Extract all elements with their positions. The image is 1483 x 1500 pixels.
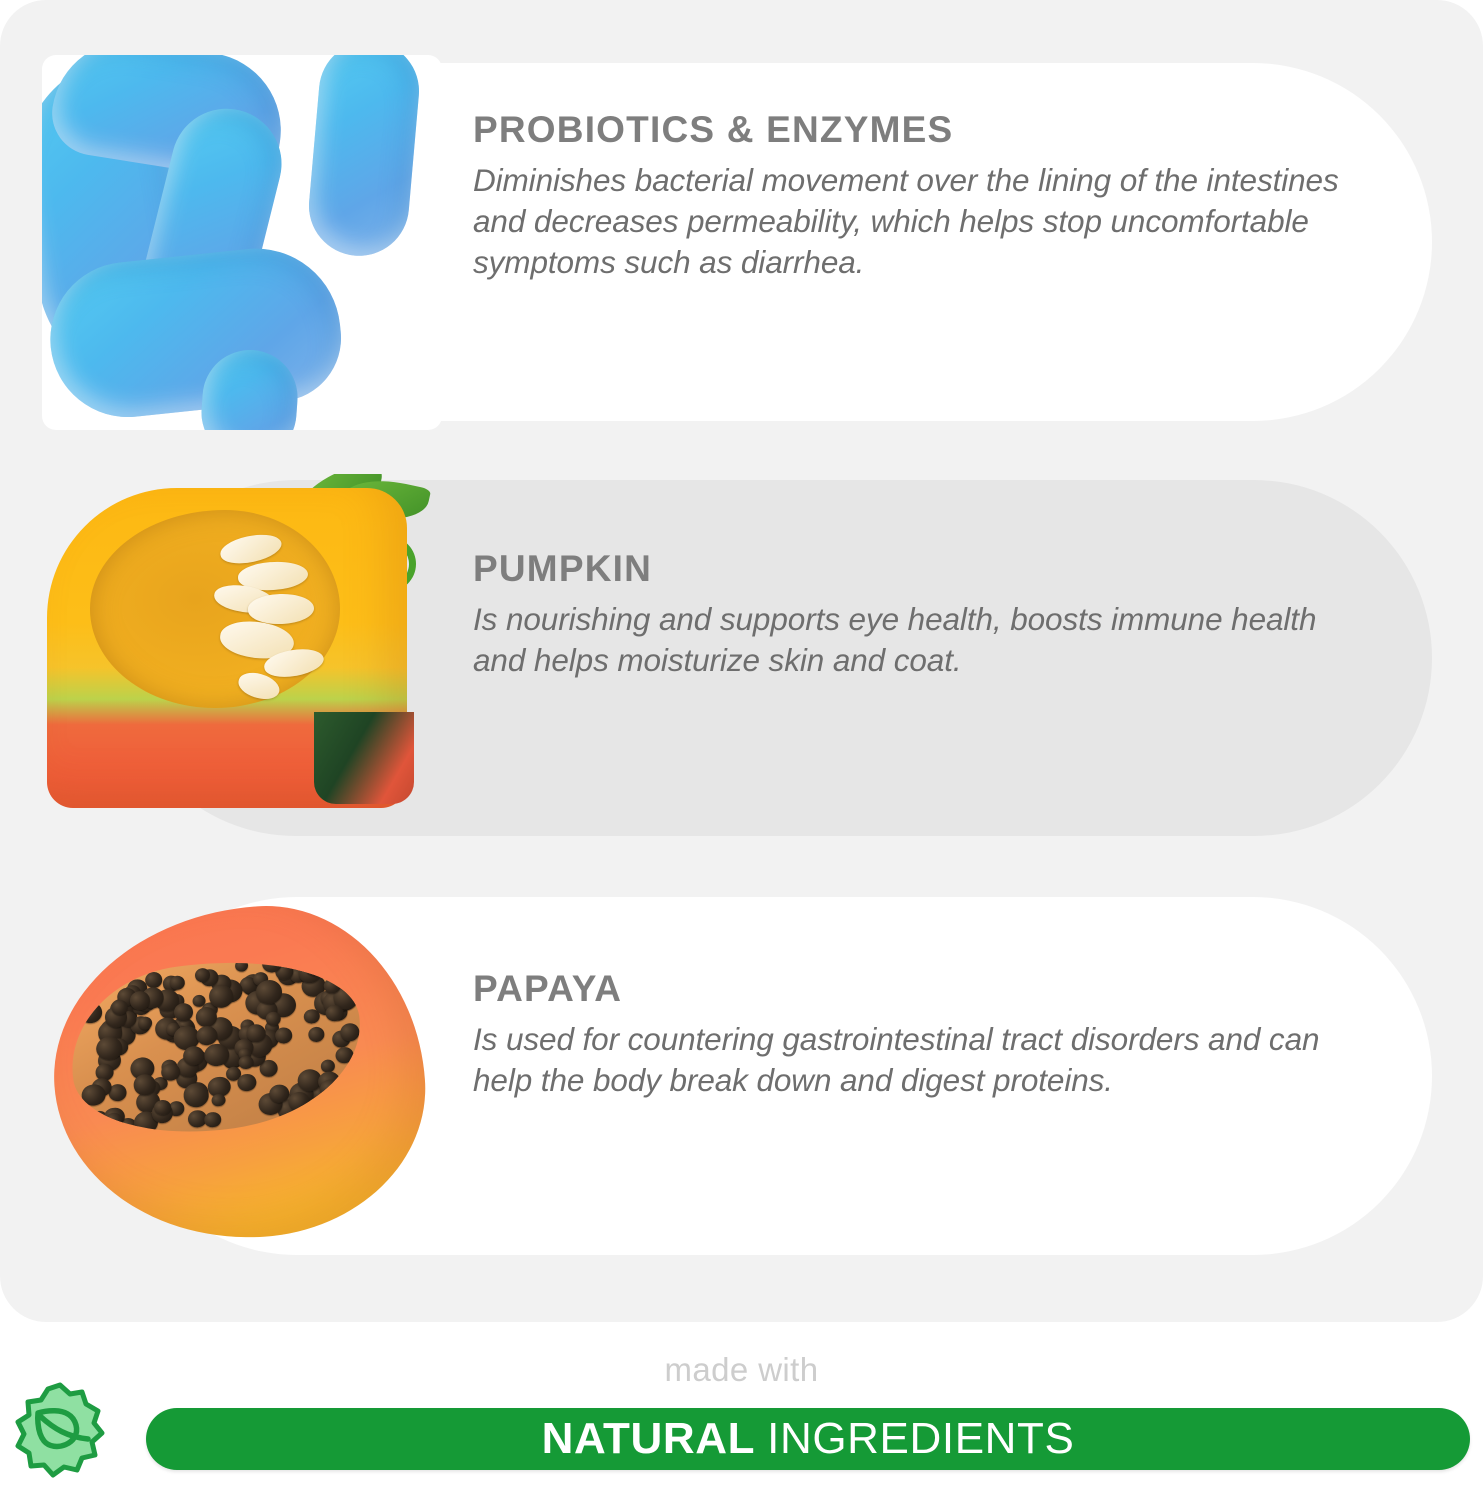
banner-text: NATURAL INGREDIENTS bbox=[146, 1408, 1470, 1470]
footer: made with NATURAL INGREDIENTS bbox=[0, 1322, 1483, 1500]
made-with-label: made with bbox=[0, 1351, 1483, 1389]
probiotics-gut-icon bbox=[42, 55, 442, 430]
card-title: PAPAYA bbox=[473, 970, 1372, 1009]
card-description: Is nourishing and supports eye health, b… bbox=[473, 599, 1372, 681]
pumpkin-icon bbox=[42, 474, 442, 844]
banner-light-word: INGREDIENTS bbox=[767, 1414, 1074, 1464]
papaya-icon bbox=[42, 890, 442, 1265]
natural-ingredients-banner: NATURAL INGREDIENTS bbox=[146, 1408, 1470, 1470]
card-title: PROBIOTICS & ENZYMES bbox=[473, 111, 1372, 150]
card-title: PUMPKIN bbox=[473, 550, 1372, 589]
card-text-block: PAPAYA Is used for countering gastrointe… bbox=[473, 970, 1372, 1101]
banner-strong-word: NATURAL bbox=[542, 1414, 756, 1464]
card-text-block: PUMPKIN Is nourishing and supports eye h… bbox=[473, 550, 1372, 681]
card-description: Is used for countering gastrointestinal … bbox=[473, 1019, 1372, 1101]
leaf-seal-icon bbox=[8, 1379, 120, 1491]
card-description: Diminishes bacterial movement over the l… bbox=[473, 160, 1372, 283]
card-text-block: PROBIOTICS & ENZYMES Diminishes bacteria… bbox=[473, 111, 1372, 283]
